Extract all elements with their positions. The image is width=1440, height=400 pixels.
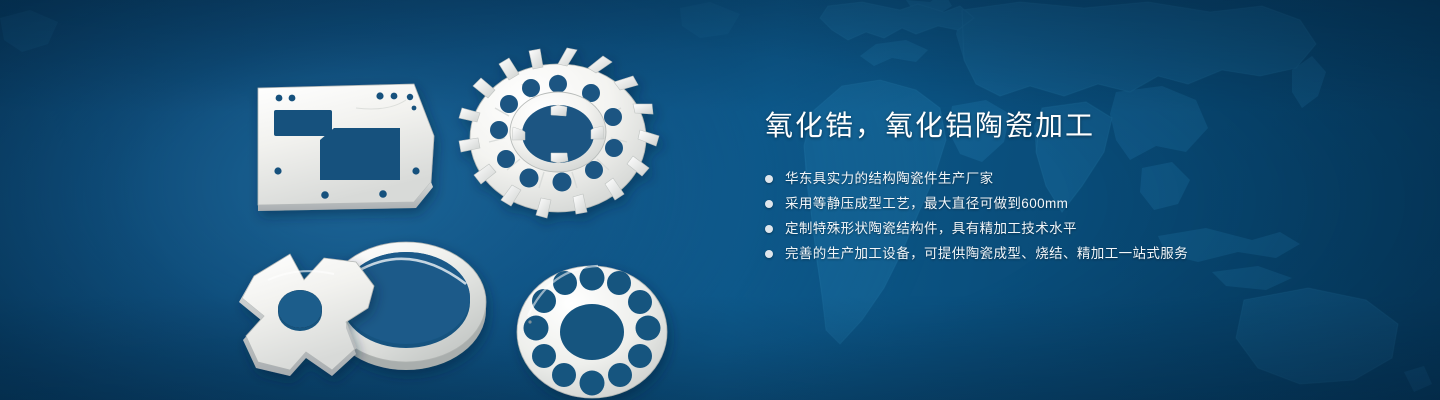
ceramic-impeller-rotor bbox=[459, 48, 659, 218]
bullet-dot-icon bbox=[765, 250, 773, 258]
list-item: 采用等静压成型工艺，最大直径可做到600mm bbox=[765, 193, 1385, 215]
feature-text: 华东具实力的结构陶瓷件生产厂家 bbox=[785, 168, 994, 190]
list-item: 华东具实力的结构陶瓷件生产厂家 bbox=[765, 168, 1385, 190]
hero-banner: 氧化锆，氧化铝陶瓷加工 华东具实力的结构陶瓷件生产厂家 采用等静压成型工艺，最大… bbox=[0, 0, 1440, 400]
feature-text: 完善的生产加工设备，可提供陶瓷成型、烧结、精加工一站式服务 bbox=[785, 243, 1188, 265]
ceramic-perforated-disc bbox=[517, 266, 667, 399]
ceramic-products-image bbox=[228, 40, 728, 380]
page-title: 氧化锆，氧化铝陶瓷加工 bbox=[765, 108, 1385, 144]
feature-text: 定制特殊形状陶瓷结构件，具有精加工技术水平 bbox=[785, 218, 1077, 240]
bullet-dot-icon bbox=[765, 175, 773, 183]
banner-text-column: 氧化锆，氧化铝陶瓷加工 华东具实力的结构陶瓷件生产厂家 采用等静压成型工艺，最大… bbox=[765, 108, 1385, 268]
ceramic-cross-plate bbox=[239, 254, 374, 376]
bullet-dot-icon bbox=[765, 200, 773, 208]
feature-list: 华东具实力的结构陶瓷件生产厂家 采用等静压成型工艺，最大直径可做到600mm 定… bbox=[765, 168, 1385, 265]
bullet-dot-icon bbox=[765, 225, 773, 233]
feature-text: 采用等静压成型工艺，最大直径可做到600mm bbox=[785, 193, 1068, 215]
list-item: 定制特殊形状陶瓷结构件，具有精加工技术水平 bbox=[765, 218, 1385, 240]
ceramic-mounting-plate bbox=[258, 84, 434, 211]
list-item: 完善的生产加工设备，可提供陶瓷成型、烧结、精加工一站式服务 bbox=[765, 243, 1385, 265]
